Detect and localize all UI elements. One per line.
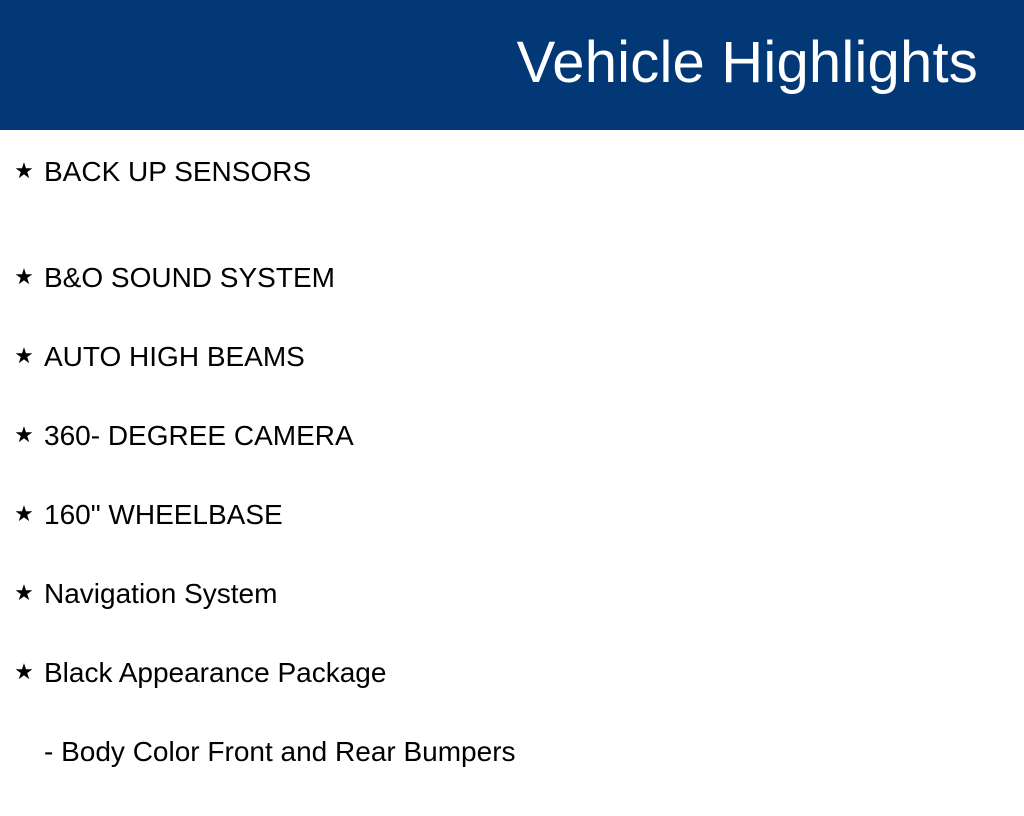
list-item: ★ 360- DEGREE CAMERA [0, 421, 1024, 500]
list-item-label: B&O SOUND SYSTEM [44, 263, 335, 293]
list-item-sub-label: - Body Color Front and Rear Bumpers [44, 737, 516, 767]
list-item-label: AUTO HIGH BEAMS [44, 342, 305, 372]
vehicle-highlights-list: ★ BACK UP SENSORS ★ B&O SOUND SYSTEM ★ A… [0, 130, 1024, 768]
list-item: ★ 160" WHEELBASE [0, 500, 1024, 579]
star-bullet-icon: ★ [13, 421, 35, 451]
star-bullet-icon: ★ [13, 263, 35, 293]
list-item: ★ Navigation System [0, 579, 1024, 658]
page-title: Vehicle Highlights [517, 28, 978, 98]
star-bullet-icon: ★ [13, 342, 35, 372]
list-item: ★ BACK UP SENSORS [0, 130, 1024, 263]
star-bullet-icon: ★ [13, 500, 35, 530]
list-item-sub: - Body Color Front and Rear Bumpers [0, 737, 1024, 816]
list-item-label: 160" WHEELBASE [44, 500, 283, 530]
star-bullet-icon: ★ [13, 658, 35, 688]
slide-canvas: Vehicle Highlights ★ BACK UP SENSORS ★ B… [0, 0, 1024, 768]
list-item: ★ B&O SOUND SYSTEM [0, 263, 1024, 342]
star-bullet-icon: ★ [13, 157, 35, 187]
list-item-label: BACK UP SENSORS [44, 157, 311, 187]
list-item: ★ Black Appearance Package [0, 658, 1024, 737]
list-item: ★ AUTO HIGH BEAMS [0, 342, 1024, 421]
list-item-label: Navigation System [44, 579, 277, 609]
header-banner: Vehicle Highlights [0, 0, 1024, 130]
star-bullet-icon: ★ [13, 579, 35, 609]
list-item-label: Black Appearance Package [44, 658, 386, 688]
list-item-label: 360- DEGREE CAMERA [44, 421, 354, 451]
